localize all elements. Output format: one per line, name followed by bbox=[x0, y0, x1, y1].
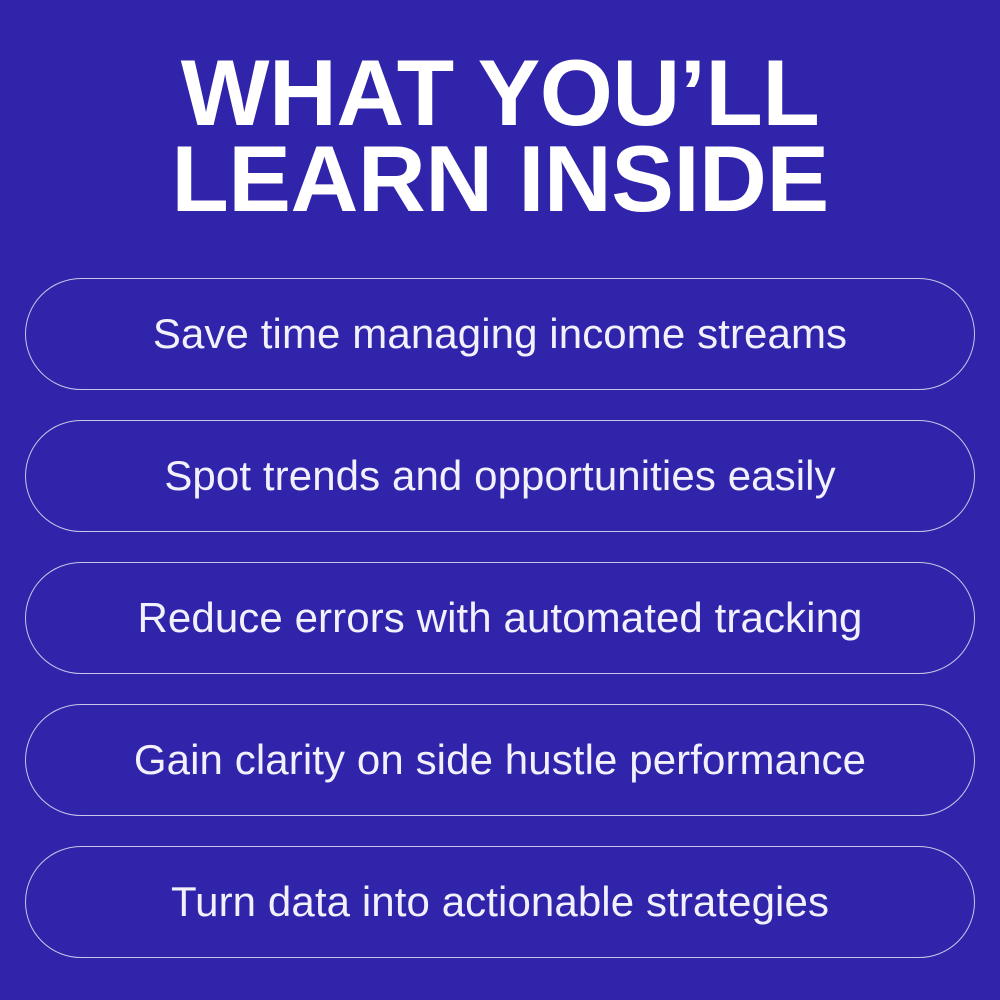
benefit-label: Gain clarity on side hustle performance bbox=[134, 739, 866, 781]
benefit-pill-3: Reduce errors with automated tracking bbox=[25, 562, 975, 674]
benefit-pill-4: Gain clarity on side hustle performance bbox=[25, 704, 975, 816]
page-title: WHAT YOU’LL LEARN INSIDE bbox=[0, 0, 1000, 222]
page-title-line-1: WHAT YOU’LL bbox=[0, 50, 1000, 136]
benefit-label: Spot trends and opportunities easily bbox=[164, 455, 835, 497]
benefit-pill-2: Spot trends and opportunities easily bbox=[25, 420, 975, 532]
benefit-pill-5: Turn data into actionable strategies bbox=[25, 846, 975, 958]
promo-poster: WHAT YOU’LL LEARN INSIDE Save time manag… bbox=[0, 0, 1000, 1000]
benefit-label: Save time managing income streams bbox=[153, 313, 847, 355]
benefit-label: Turn data into actionable strategies bbox=[171, 881, 829, 923]
page-title-line-2: LEARN INSIDE bbox=[0, 136, 1000, 222]
benefit-pill-1: Save time managing income streams bbox=[25, 278, 975, 390]
benefit-label: Reduce errors with automated tracking bbox=[137, 597, 862, 639]
benefits-list: Save time managing income streams Spot t… bbox=[25, 278, 975, 958]
